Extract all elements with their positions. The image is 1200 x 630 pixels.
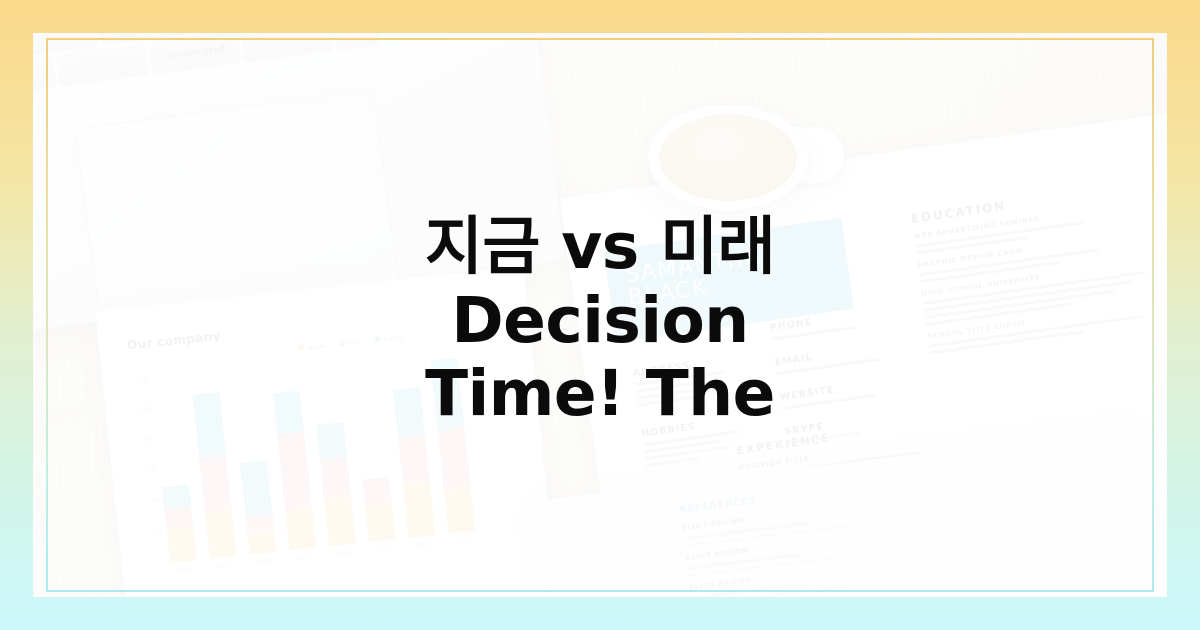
chart-legend-item: Yellow <box>298 342 326 353</box>
keyboard-key <box>241 33 332 61</box>
chart-y-tick: 80 <box>146 437 153 444</box>
chart-bar-segment <box>205 509 237 559</box>
chart-legend-item: Future <box>374 334 403 345</box>
chart-bar-segment <box>398 434 430 484</box>
chart-legend-item: Pink <box>339 338 361 348</box>
chart-bar <box>273 390 316 550</box>
chart-bar-segment <box>403 482 435 538</box>
chart-y-tick: 0 <box>162 558 166 564</box>
chart-y-tick: 100 <box>140 407 150 414</box>
chart-y-tick: 20 <box>156 527 163 534</box>
chart-x-tick: 2017 <box>290 554 317 563</box>
chart-bar-segment <box>166 526 196 563</box>
chart-bar-segment <box>273 390 304 434</box>
chart-x-tick: 2015 <box>210 562 237 571</box>
mug-body <box>648 105 808 210</box>
background-photo: DBVcommandZHCMaltFXNcommand Our company … <box>33 33 1167 597</box>
chart-bar-segment <box>316 422 346 459</box>
chart-bar <box>316 422 356 546</box>
keyboard-key <box>333 33 378 49</box>
chart-legend-swatch <box>374 336 381 343</box>
chart-bar-segment <box>193 392 226 458</box>
chart-bar-segment <box>324 495 356 547</box>
chart-bar-segment <box>444 487 475 534</box>
chart-bar <box>162 485 197 563</box>
chart-y-tick: 40 <box>153 497 160 504</box>
chart-bar-segment <box>277 431 312 509</box>
keyboard-key <box>33 56 55 91</box>
chart-title: Our company <box>126 329 221 353</box>
chart-bar <box>193 392 237 559</box>
chart-bar-segment <box>365 502 396 543</box>
chart-bar <box>240 461 276 555</box>
chart-bar-segment <box>199 455 231 511</box>
cover-canvas: DBVcommandZHCMaltFXNcommand Our company … <box>0 0 1200 630</box>
chart-bar-segment <box>438 427 471 490</box>
chart-x-tick: 2019 <box>370 545 397 554</box>
chart-bar-segment <box>285 507 316 551</box>
chart-report-sheet: Our company 120100806040200 YellowPinkFu… <box>95 267 564 597</box>
chart-bar-segment <box>240 461 272 517</box>
chart-legend-swatch <box>339 340 346 347</box>
line-chart-thumb <box>159 592 495 597</box>
chart-bar <box>362 476 395 542</box>
chart-x-tick: 2021 <box>449 537 476 546</box>
chart-bar-segment <box>362 476 391 504</box>
chart-bar <box>393 387 435 538</box>
chart-x-tick: 2016 <box>250 558 277 567</box>
chart-bar-segment <box>247 530 276 555</box>
chart-bar-segment <box>320 457 351 498</box>
chart-y-tick: 60 <box>150 467 157 474</box>
chart-legend: YellowPinkFuture <box>298 334 403 353</box>
chart-bar-segment <box>430 358 464 430</box>
keyboard-key: command <box>149 33 240 73</box>
chart-x-tick: 2018 <box>330 550 357 559</box>
chart-bar-segment <box>393 387 425 437</box>
chart-legend-swatch <box>298 344 305 351</box>
chart-bar <box>430 358 475 534</box>
latte-surface <box>659 114 797 201</box>
coffee-mug <box>648 105 808 210</box>
chart-x-tick: 2020 <box>409 541 436 550</box>
keyboard-key <box>56 44 147 85</box>
chart-y-tick: 120 <box>137 377 147 384</box>
chart-x-tick: 2014 <box>171 566 198 575</box>
stacked-bar-chart: YellowPinkFuture <box>150 337 526 563</box>
chart-bar-segment <box>162 485 191 510</box>
chart-footer-label: Business items <box>154 596 262 597</box>
